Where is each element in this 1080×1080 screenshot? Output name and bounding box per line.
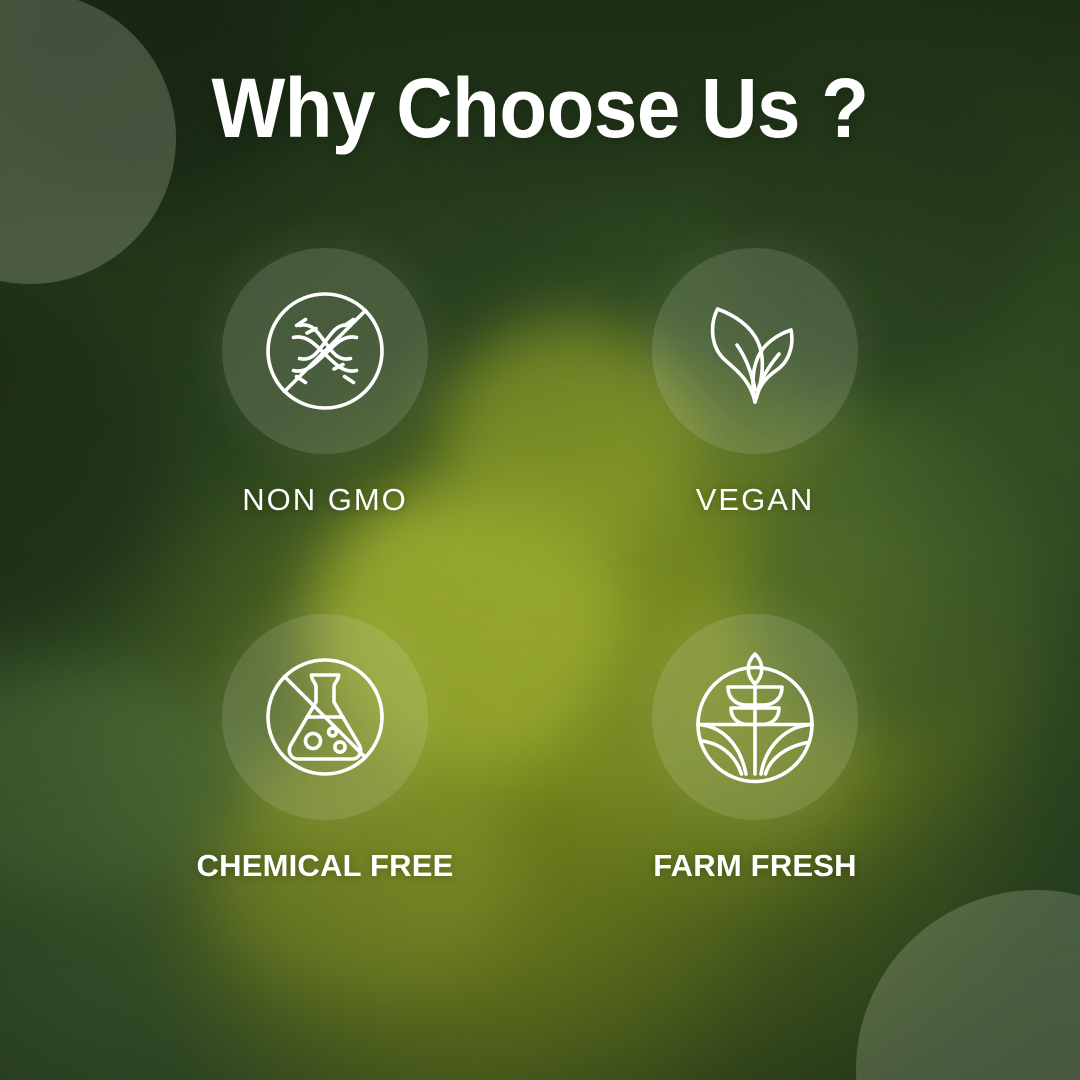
non-gmo-badge xyxy=(222,248,428,454)
feature-vegan[interactable]: VEGAN xyxy=(540,248,970,614)
feature-label: CHEMICAL FREE xyxy=(197,850,454,881)
feature-label: FARM FRESH xyxy=(653,850,857,881)
feature-chemical-free[interactable]: CHEMICAL FREE xyxy=(110,614,540,980)
farm-field-sprout-icon xyxy=(680,642,830,792)
feature-non-gmo[interactable]: NON GMO xyxy=(110,248,540,614)
feature-label: VEGAN xyxy=(696,484,815,515)
vegan-badge xyxy=(652,248,858,454)
two-leaves-icon xyxy=(680,276,830,426)
no-gmo-dna-icon xyxy=(250,276,400,426)
feature-farm-fresh[interactable]: FARM FRESH xyxy=(540,614,970,980)
why-choose-us-poster: Why Choose Us ? xyxy=(0,0,1080,1080)
no-chemical-flask-icon xyxy=(250,642,400,792)
page-title: Why Choose Us ? xyxy=(38,66,1042,150)
farm-fresh-badge xyxy=(652,614,858,820)
chemical-free-badge xyxy=(222,614,428,820)
feature-label: NON GMO xyxy=(242,484,408,515)
features-grid: NON GMO VEGAN xyxy=(110,248,970,980)
